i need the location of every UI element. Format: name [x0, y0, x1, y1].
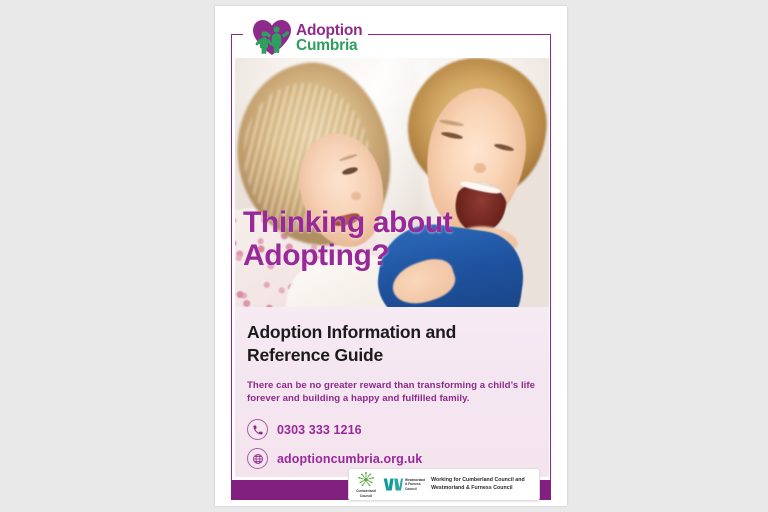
- footer-partner-card: Cumberland Council Westmorland & Furness…: [348, 468, 540, 501]
- panel-title-line-2: Reference Guide: [247, 344, 535, 367]
- heart-with-family-figures-icon: [251, 17, 293, 57]
- globe-icon: [247, 448, 268, 469]
- phone-icon: [247, 419, 268, 440]
- contact-details: 0303 333 1216 adoptioncumbria.org.uk: [247, 419, 535, 469]
- phone-number: 0303 333 1216: [277, 423, 362, 437]
- adoption-cumbria-logo: Adoption Cumbria: [251, 16, 379, 58]
- footer-strapline: Working for Cumberland Council and Westm…: [431, 477, 525, 492]
- cumberland-emblem-icon: [355, 471, 377, 488]
- logo-line-adoption: Adoption: [296, 23, 362, 39]
- westmorland-caption: Westmorland & Furness Council: [405, 478, 425, 490]
- logo-wordmark: Adoption Cumbria: [296, 21, 362, 54]
- cumberland-caption: Cumberland Council: [356, 489, 376, 498]
- website-url: adoptioncumbria.org.uk: [277, 452, 422, 466]
- westmorland-furness-council-logo: Westmorland & Furness Council: [383, 477, 425, 492]
- panel-title-line-1: Adoption Information and: [247, 321, 535, 344]
- content-column: Thinking about Adopting? Adoption Inform…: [235, 58, 549, 478]
- contact-row-phone[interactable]: 0303 333 1216: [247, 419, 535, 440]
- cumberland-council-logo: Cumberland Council: [355, 471, 377, 498]
- hero-photo: Thinking about Adopting?: [235, 58, 549, 307]
- hero-heading-line-1: Thinking about: [243, 206, 533, 240]
- contact-row-website[interactable]: adoptioncumbria.org.uk: [247, 448, 535, 469]
- logo-line-cumbria: Cumbria: [296, 38, 362, 54]
- hero-heading: Thinking about Adopting?: [243, 206, 533, 273]
- westmorland-w-icon: [383, 477, 403, 492]
- footer-strapline-line-1: Working for Cumberland Council and: [431, 477, 525, 485]
- info-panel: Adoption Information and Reference Guide…: [235, 307, 549, 477]
- leaflet-page: Adoption Cumbria: [215, 6, 567, 506]
- panel-title: Adoption Information and Reference Guide: [247, 321, 535, 368]
- hero-heading-line-2: Adopting?: [243, 239, 533, 273]
- panel-tagline: There can be no greater reward than tran…: [247, 379, 537, 407]
- footer-strapline-line-2: Westmorland & Furness Council: [431, 485, 525, 493]
